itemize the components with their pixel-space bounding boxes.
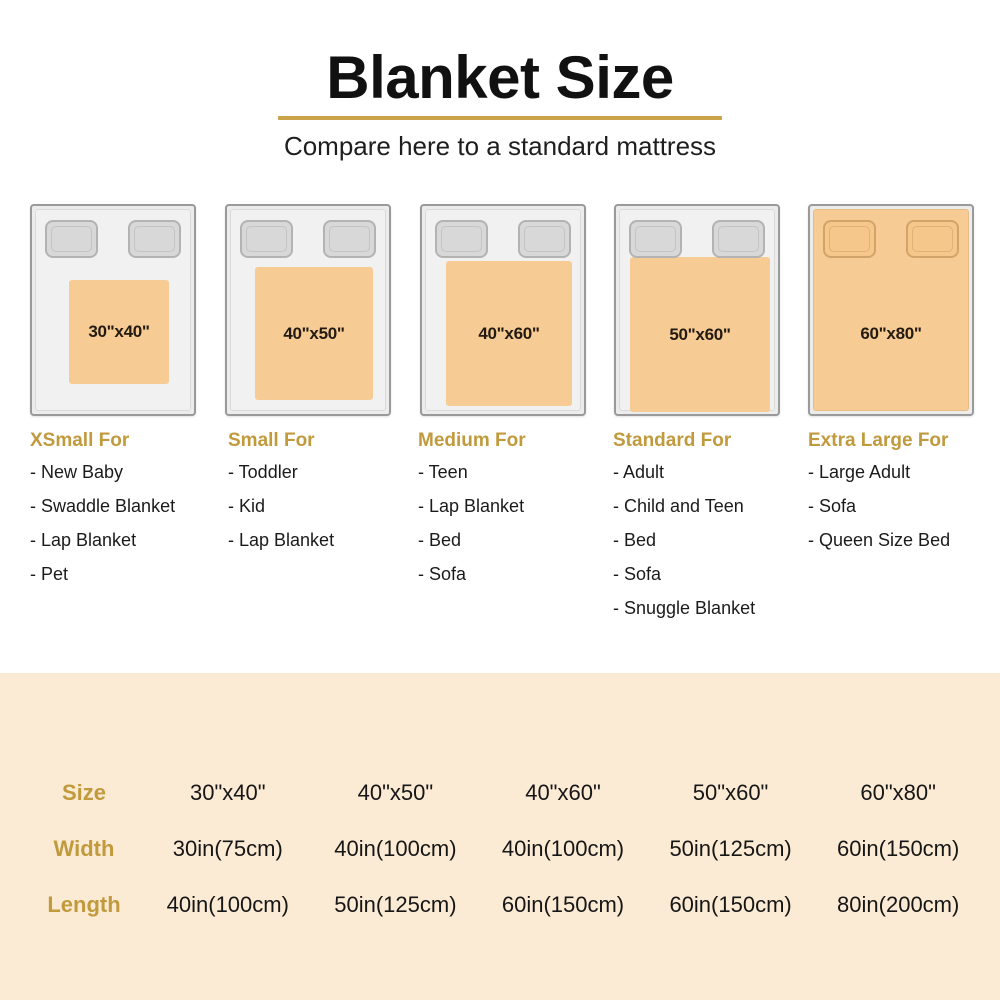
- table-row-label: Width: [24, 821, 144, 877]
- use-list-item: - Child and Teen: [613, 497, 813, 515]
- table-cell: 60"x80": [814, 765, 982, 821]
- use-column-2: Small For- Toddler- Kid- Lap Blanket: [228, 430, 428, 565]
- pillow-icon-1: [823, 220, 876, 258]
- use-list-item: - Lap Blanket: [228, 531, 428, 549]
- use-list-item: - Adult: [613, 463, 813, 481]
- table-cell: 50"x60": [647, 765, 815, 821]
- table-cell: 40in(100cm): [312, 821, 480, 877]
- use-list-item: - Large Adult: [808, 463, 1000, 481]
- pillow-icon-1: [45, 220, 98, 258]
- blanket-rect: 30"x40": [69, 280, 169, 384]
- mattress-frame: 60"x80": [808, 204, 974, 416]
- mattress-frame: 40"x50": [225, 204, 391, 416]
- bed-diagram-3: 40"x60": [420, 204, 586, 426]
- blanket-size-label: 30"x40": [88, 322, 149, 342]
- blanket-size-label: 60"x80": [810, 324, 972, 344]
- bed-diagram-2: 40"x50": [225, 204, 391, 426]
- use-list-item: - Snuggle Blanket: [613, 599, 813, 617]
- mattress-frame: 50"x60": [614, 204, 780, 416]
- use-column-4: Standard For- Adult- Child and Teen- Bed…: [613, 430, 813, 633]
- use-list-item: - Sofa: [418, 565, 618, 583]
- table-cell: 50in(125cm): [647, 821, 815, 877]
- page-subtitle: Compare here to a standard mattress: [0, 131, 1000, 162]
- blanket-size-label: 40"x50": [283, 324, 344, 344]
- spec-table-panel: Size30"x40"40"x50"40"x60"50"x60"60"x80"W…: [0, 673, 1000, 1000]
- blanket-rect: 40"x50": [255, 267, 373, 400]
- use-list-item: - Bed: [418, 531, 618, 549]
- table-cell: 40"x50": [312, 765, 480, 821]
- bed-diagram-5: 60"x80": [808, 204, 974, 426]
- use-list-item: - New Baby: [30, 463, 230, 481]
- page-title: Blanket Size: [0, 48, 1000, 108]
- use-column-heading: Small For: [228, 430, 428, 452]
- use-list-item: - Toddler: [228, 463, 428, 481]
- table-cell: 30"x40": [144, 765, 312, 821]
- use-list-item: - Bed: [613, 531, 813, 549]
- pillow-icon-2: [323, 220, 376, 258]
- use-column-1: XSmall For- New Baby- Swaddle Blanket- L…: [30, 430, 230, 599]
- table-cell: 50in(125cm): [312, 877, 480, 933]
- page-header: Blanket Size Compare here to a standard …: [0, 48, 1000, 162]
- table-cell: 40in(100cm): [479, 821, 647, 877]
- table-cell: 80in(200cm): [814, 877, 982, 933]
- pillow-icon-2: [128, 220, 181, 258]
- pillow-icon-2: [712, 220, 765, 258]
- table-cell: 30in(75cm): [144, 821, 312, 877]
- use-list-item: - Sofa: [613, 565, 813, 583]
- use-list-item: - Lap Blanket: [30, 531, 230, 549]
- blanket-rect: 40"x60": [446, 261, 572, 406]
- use-list-item: - Sofa: [808, 497, 1000, 515]
- use-column-3: Medium For- Teen- Lap Blanket- Bed- Sofa: [418, 430, 618, 599]
- table-cell: 40"x60": [479, 765, 647, 821]
- table-cell: 40in(100cm): [144, 877, 312, 933]
- table-cell: 60in(150cm): [647, 877, 815, 933]
- use-column-heading: Extra Large For: [808, 430, 1000, 452]
- pillow-icon-1: [629, 220, 682, 258]
- table-row-label: Length: [24, 877, 144, 933]
- spec-table: Size30"x40"40"x50"40"x60"50"x60"60"x80"W…: [24, 765, 982, 933]
- table-row: Length40in(100cm)50in(125cm)60in(150cm)6…: [24, 877, 982, 933]
- use-list-item: - Kid: [228, 497, 428, 515]
- use-column-heading: Standard For: [613, 430, 813, 452]
- pillow-icon-1: [435, 220, 488, 258]
- table-cell: 60in(150cm): [814, 821, 982, 877]
- table-row: Width30in(75cm)40in(100cm)40in(100cm)50i…: [24, 821, 982, 877]
- table-cell: 60in(150cm): [479, 877, 647, 933]
- pillow-icon-1: [240, 220, 293, 258]
- use-column-5: Extra Large For- Large Adult- Sofa- Quee…: [808, 430, 1000, 565]
- use-list-item: - Teen: [418, 463, 618, 481]
- use-list-item: - Queen Size Bed: [808, 531, 1000, 549]
- blanket-size-label: 50"x60": [669, 325, 730, 345]
- bed-diagram-1: 30"x40": [30, 204, 196, 426]
- use-list-item: - Lap Blanket: [418, 497, 618, 515]
- bed-diagram-row: 30"x40"40"x50"40"x60"50"x60"60"x80": [0, 204, 1000, 426]
- use-list-item: - Swaddle Blanket: [30, 497, 230, 515]
- use-column-heading: Medium For: [418, 430, 618, 452]
- blanket-size-label: 40"x60": [478, 324, 539, 344]
- use-list-item: - Pet: [30, 565, 230, 583]
- mattress-frame: 40"x60": [420, 204, 586, 416]
- table-row: Size30"x40"40"x50"40"x60"50"x60"60"x80": [24, 765, 982, 821]
- pillow-icon-2: [906, 220, 959, 258]
- use-column-heading: XSmall For: [30, 430, 230, 452]
- mattress-frame: 30"x40": [30, 204, 196, 416]
- pillow-icon-2: [518, 220, 571, 258]
- blanket-rect: 50"x60": [630, 257, 770, 412]
- table-row-label: Size: [24, 765, 144, 821]
- bed-diagram-4: 50"x60": [614, 204, 780, 426]
- title-underline-rule: [278, 116, 722, 120]
